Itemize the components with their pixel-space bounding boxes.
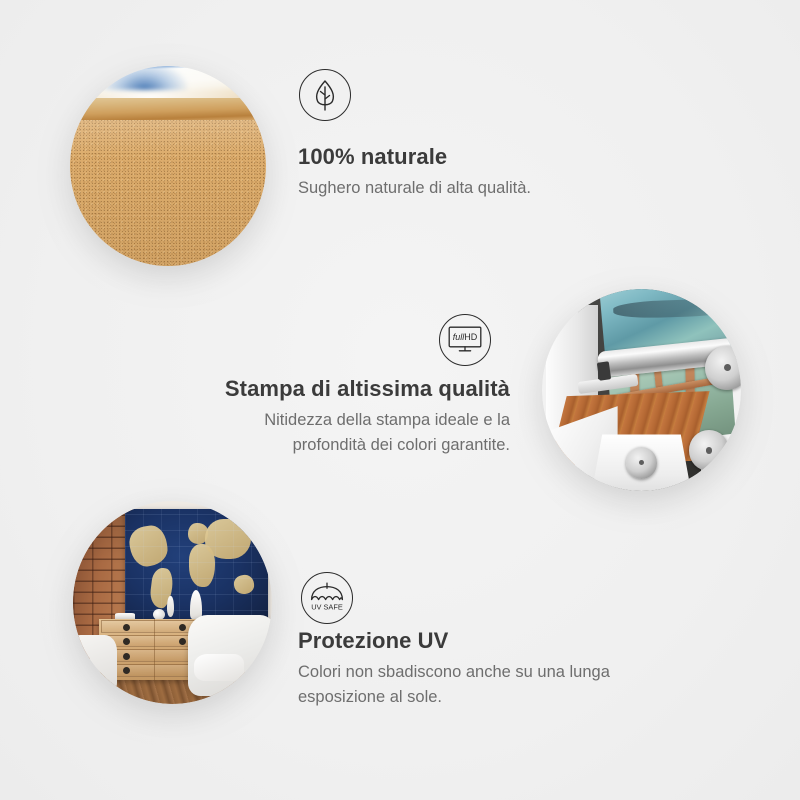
feature-natural-description-line: Sughero naturale di alta qualità. (298, 176, 718, 200)
interior-room-photo (73, 501, 272, 704)
dresser-knob (179, 624, 186, 631)
printer-wheel (705, 346, 741, 390)
cork-grain-shading (70, 120, 266, 266)
feature-natural-description: Sughero naturale di alta qualità. (298, 176, 718, 200)
feature-print-quality-text: Stampa di altissima qualità Nitidezza de… (160, 374, 510, 458)
decor-vase (167, 596, 175, 616)
dresser-knob (123, 624, 130, 631)
cork-photo-inner (70, 66, 266, 266)
feature-print-quality-description: Nitidezza della stampa ideale e la profo… (160, 408, 510, 458)
fullhd-monitor-icon: fullHD (439, 314, 491, 366)
room-photo-inner (73, 501, 272, 704)
printer-wheel (626, 447, 658, 479)
white-armchair (188, 615, 272, 696)
feature-print-quality-title: Stampa di altissima qualità (160, 374, 510, 404)
uv-safe-umbrella-icon: UV SAFE (301, 572, 353, 624)
feature-print-quality-description-line: Nitidezza della stampa ideale e la (160, 408, 510, 433)
svg-text:fullHD: fullHD (453, 332, 478, 342)
leaf-icon (299, 69, 351, 121)
feature-uv-protection-description: Colori non sbadiscono anche su una lunga… (298, 660, 698, 710)
printer-photo-inner (542, 289, 741, 491)
feature-uv-protection-description-line: esposizione al sole. (298, 685, 698, 710)
armchair-left-partial (73, 635, 117, 692)
large-format-printer-photo (542, 289, 741, 491)
cork-board-photo (70, 66, 266, 266)
feature-natural-title: 100% naturale (298, 142, 718, 172)
feature-print-quality-description-line: profondità dei colori garantite. (160, 433, 510, 458)
feature-natural-text: 100% naturale Sughero naturale di alta q… (298, 142, 718, 200)
uv-safe-label: UV SAFE (311, 603, 343, 612)
printer-knob (597, 361, 611, 381)
feature-uv-protection-text: Protezione UV Colori non sbadiscono anch… (298, 626, 698, 710)
cork-blue-accent (101, 66, 187, 90)
feature-highlights-page: 100% naturale Sughero naturale di alta q… (0, 0, 800, 800)
feature-uv-protection-title: Protezione UV (298, 626, 698, 656)
dresser-center-split (154, 619, 155, 680)
cork-grain-texture (70, 120, 266, 266)
feature-uv-protection-description-line: Colori non sbadiscono anche su una lunga (298, 660, 698, 685)
printer-wheel (689, 430, 729, 470)
